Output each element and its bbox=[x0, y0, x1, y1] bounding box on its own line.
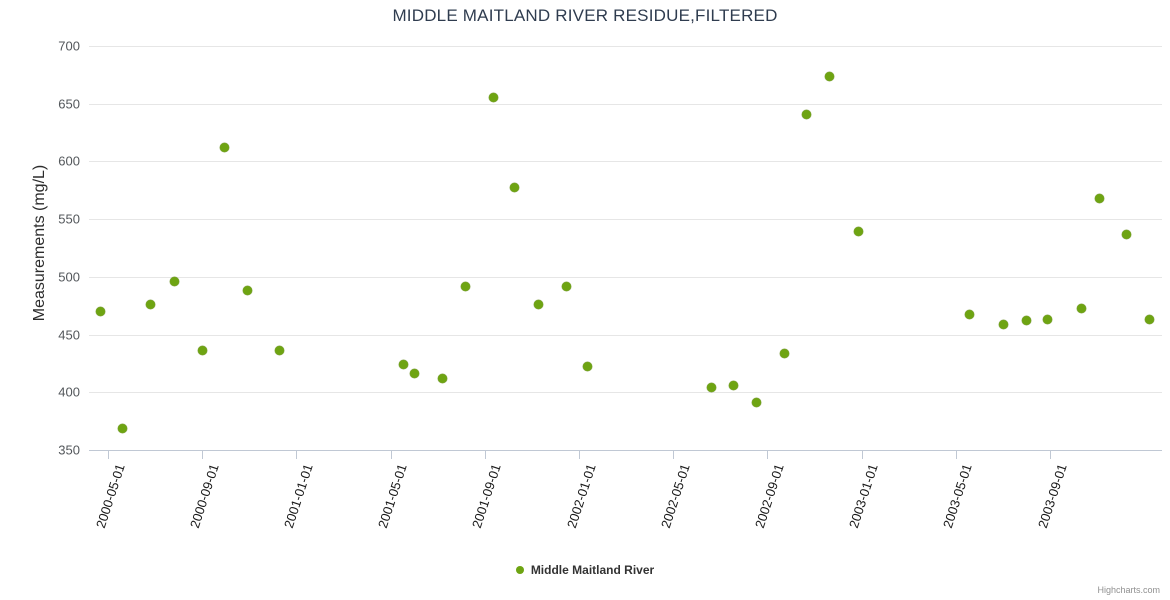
x-tick-mark-2003-05-01 bbox=[956, 450, 957, 459]
data-point[interactable] bbox=[1122, 230, 1131, 239]
data-point[interactable] bbox=[220, 143, 229, 152]
data-point[interactable] bbox=[1043, 315, 1052, 324]
gridline-450 bbox=[89, 335, 1162, 336]
data-point[interactable] bbox=[1095, 194, 1104, 203]
x-tick-mark-2003-01-01 bbox=[862, 450, 863, 459]
data-point[interactable] bbox=[825, 72, 834, 81]
chart-legend: Middle Maitland River bbox=[0, 562, 1170, 577]
data-point[interactable] bbox=[489, 93, 498, 102]
y-tick-label-400: 400 bbox=[18, 385, 80, 400]
data-point[interactable] bbox=[729, 381, 738, 390]
data-point[interactable] bbox=[752, 398, 761, 407]
x-tick-label-2003-09-01: 2003-09-01 bbox=[1034, 462, 1069, 530]
x-tick-mark-2002-01-01 bbox=[579, 450, 580, 459]
x-tick-label-2002-05-01: 2002-05-01 bbox=[658, 462, 693, 530]
data-point[interactable] bbox=[461, 282, 470, 291]
data-point[interactable] bbox=[534, 300, 543, 309]
x-tick-label-2003-05-01: 2003-05-01 bbox=[940, 462, 975, 530]
data-point[interactable] bbox=[1145, 315, 1154, 324]
data-point[interactable] bbox=[96, 307, 105, 316]
data-point[interactable] bbox=[275, 346, 284, 355]
highcharts-credits-link[interactable]: Highcharts.com bbox=[1097, 585, 1160, 595]
x-tick-label-2001-01-01: 2001-01-01 bbox=[281, 462, 316, 530]
y-tick-label-450: 450 bbox=[18, 327, 80, 342]
legend-marker-icon bbox=[516, 566, 524, 574]
x-tick-label-2002-01-01: 2002-01-01 bbox=[563, 462, 598, 530]
gridline-700 bbox=[89, 46, 1162, 47]
data-point[interactable] bbox=[243, 286, 252, 295]
data-point[interactable] bbox=[802, 110, 811, 119]
x-tick-label-2001-05-01: 2001-05-01 bbox=[375, 462, 410, 530]
gridline-500 bbox=[89, 277, 1162, 278]
data-point[interactable] bbox=[410, 369, 419, 378]
gridline-650 bbox=[89, 104, 1162, 105]
chart-title: MIDDLE MAITLAND RIVER RESIDUE,FILTERED bbox=[0, 6, 1170, 26]
x-tick-label-2000-09-01: 2000-09-01 bbox=[187, 462, 222, 530]
data-point[interactable] bbox=[438, 374, 447, 383]
data-point[interactable] bbox=[999, 320, 1008, 329]
y-tick-label-600: 600 bbox=[18, 154, 80, 169]
data-point[interactable] bbox=[146, 300, 155, 309]
x-tick-label-2000-05-01: 2000-05-01 bbox=[92, 462, 127, 530]
data-point[interactable] bbox=[707, 383, 716, 392]
x-tick-label-2003-01-01: 2003-01-01 bbox=[846, 462, 881, 530]
legend-item-middle-maitland-river[interactable]: Middle Maitland River bbox=[516, 562, 654, 577]
data-point[interactable] bbox=[399, 360, 408, 369]
data-point[interactable] bbox=[562, 282, 571, 291]
gridline-400 bbox=[89, 392, 1162, 393]
data-point[interactable] bbox=[1022, 316, 1031, 325]
data-point[interactable] bbox=[583, 362, 592, 371]
x-tick-mark-2001-05-01 bbox=[391, 450, 392, 459]
data-point[interactable] bbox=[854, 227, 863, 236]
x-tick-mark-2002-09-01 bbox=[767, 450, 768, 459]
data-point[interactable] bbox=[965, 310, 974, 319]
data-point[interactable] bbox=[780, 349, 789, 358]
data-point[interactable] bbox=[198, 346, 207, 355]
data-point[interactable] bbox=[510, 183, 519, 192]
x-tick-mark-2000-09-01 bbox=[202, 450, 203, 459]
y-tick-label-700: 700 bbox=[18, 39, 80, 54]
data-point[interactable] bbox=[118, 424, 127, 433]
y-tick-label-500: 500 bbox=[18, 269, 80, 284]
x-tick-label-2002-09-01: 2002-09-01 bbox=[752, 462, 787, 530]
gridline-600 bbox=[89, 161, 1162, 162]
x-tick-label-2001-09-01: 2001-09-01 bbox=[469, 462, 504, 530]
chart-container: MIDDLE MAITLAND RIVER RESIDUE,FILTERED M… bbox=[0, 0, 1170, 600]
x-tick-mark-2001-09-01 bbox=[485, 450, 486, 459]
y-tick-label-550: 550 bbox=[18, 212, 80, 227]
gridline-550 bbox=[89, 219, 1162, 220]
plot-area bbox=[89, 46, 1162, 450]
data-point[interactable] bbox=[170, 277, 179, 286]
x-axis-line bbox=[89, 450, 1162, 451]
y-tick-label-350: 350 bbox=[18, 443, 80, 458]
y-axis-tick-labels: 350400450500550600650700 bbox=[10, 46, 80, 450]
data-point[interactable] bbox=[1077, 304, 1086, 313]
x-tick-mark-2001-01-01 bbox=[296, 450, 297, 459]
x-tick-mark-2000-05-01 bbox=[108, 450, 109, 459]
y-tick-label-650: 650 bbox=[18, 96, 80, 111]
legend-item-label: Middle Maitland River bbox=[531, 563, 654, 577]
x-tick-mark-2003-09-01 bbox=[1050, 450, 1051, 459]
x-tick-mark-2002-05-01 bbox=[673, 450, 674, 459]
